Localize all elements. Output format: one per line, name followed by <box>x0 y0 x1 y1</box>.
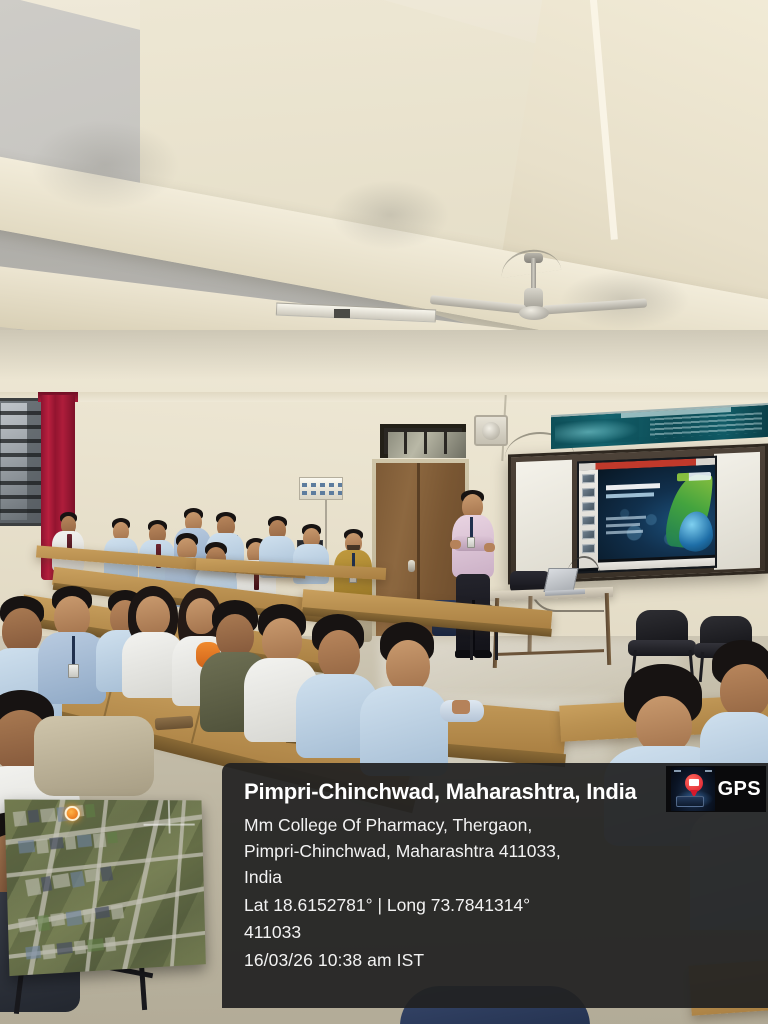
laptop-screen[interactable] <box>543 568 578 592</box>
address-line-1: Mm College Of Pharmacy, Thergaon, <box>244 813 752 839</box>
student-trousers <box>34 716 154 796</box>
switchboard[interactable] <box>299 477 343 500</box>
window-glare <box>1 403 27 520</box>
slide-waterdrop-graphic <box>679 511 713 552</box>
banner-text-block <box>650 412 762 438</box>
ceiling-stain <box>30 120 180 210</box>
display-board-assembly <box>508 444 768 585</box>
id-card <box>467 537 475 548</box>
map-thumbnail[interactable] <box>4 799 205 976</box>
gps-badge-label: GPS <box>718 778 761 801</box>
current-slide <box>598 465 717 560</box>
tube-light-ballast <box>334 309 350 318</box>
whiteboard-right <box>714 452 760 570</box>
fan-hub <box>519 306 549 320</box>
transom-window <box>380 424 466 458</box>
powerpoint-statusbar <box>598 558 717 571</box>
whiteboard-left <box>516 460 572 578</box>
ceiling-stain <box>330 180 450 250</box>
lanyard <box>470 517 473 539</box>
fan-rod <box>531 258 536 292</box>
transom-glass <box>388 432 466 458</box>
door-handle[interactable] <box>408 560 415 572</box>
slide-thumbnail-pane <box>579 470 598 569</box>
address-line-3: India <box>244 865 752 891</box>
banner-image <box>555 417 639 446</box>
presentation-screen[interactable] <box>577 456 717 574</box>
pincode: 411033 <box>244 920 752 946</box>
address-line-2: Pimpri-Chinchwad, Maharashtra 411033, <box>244 839 752 865</box>
coordinates: Lat 18.6152781° | Long 73.7841314° <box>244 893 752 919</box>
exhaust-fan-icon <box>474 415 508 446</box>
current-location-marker-icon <box>64 806 80 821</box>
wall-shadow <box>0 330 768 380</box>
gps-info-panel: Pimpri-Chinchwad, Maharashtra, India Mm … <box>222 763 768 1008</box>
map-pin-icon <box>671 767 715 811</box>
timestamp: 16/03/26 10:38 am IST <box>244 948 752 974</box>
gps-camera-photo: Pimpri-Chinchwad, Maharashtra, India Mm … <box>0 0 768 1024</box>
location-title: Pimpri-Chinchwad, Maharashtra, India <box>244 779 644 806</box>
slide-brand-logo <box>677 472 711 481</box>
gps-app-badge: GPS <box>666 766 766 812</box>
wall-band <box>0 392 768 402</box>
